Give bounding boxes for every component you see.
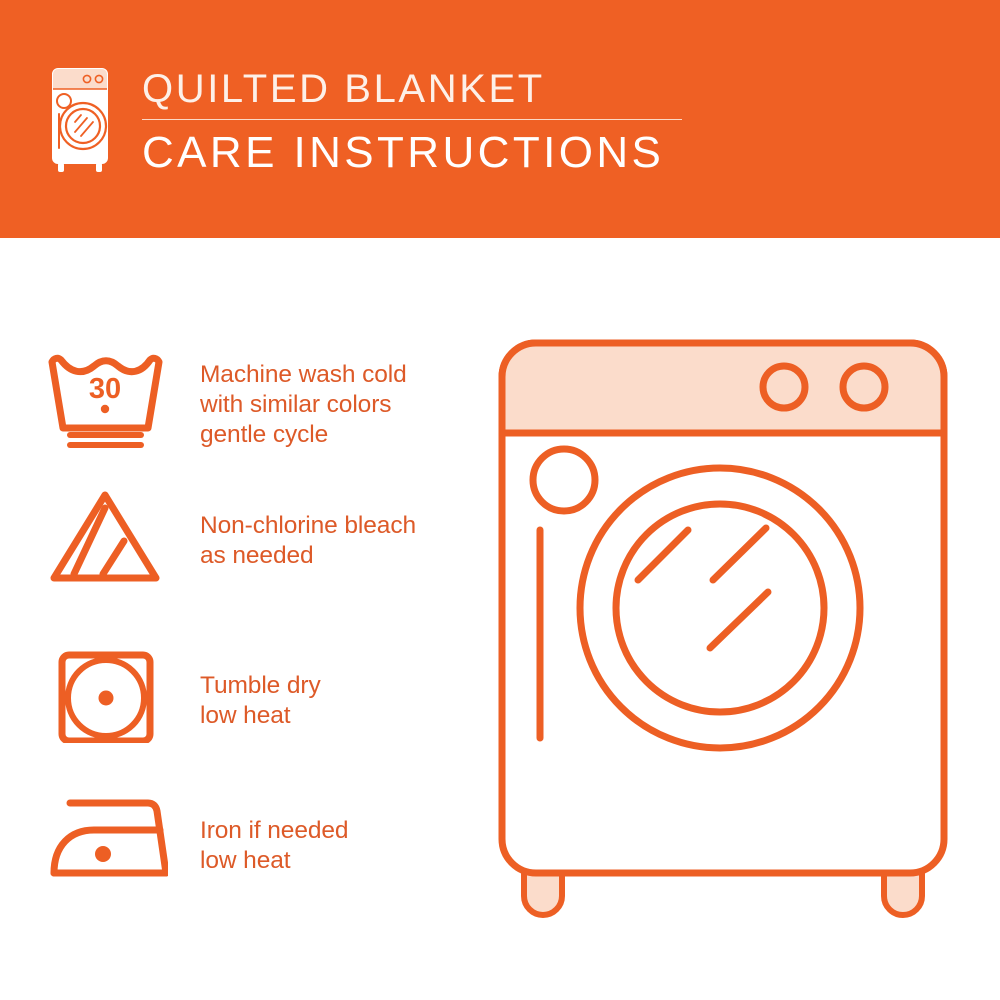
care-item-label-bleach: Non-chlorine bleach as needed <box>200 511 416 571</box>
machine-wash-basin-icon: 30 <box>48 350 168 450</box>
iron-icon <box>48 788 168 888</box>
care-instructions-page: QUILTED BLANKET CARE INSTRUCTIONS 30 <box>0 0 1000 1000</box>
page-title-primary: QUILTED BLANKET <box>142 66 702 112</box>
header-title-block: QUILTED BLANKET CARE INSTRUCTIONS <box>142 66 702 179</box>
care-item-label-machine-wash: Machine wash cold with similar colors ge… <box>200 360 407 450</box>
header-banner: QUILTED BLANKET CARE INSTRUCTIONS <box>0 0 1000 238</box>
washing-machine-logo-icon <box>45 66 111 174</box>
machine-leg-group <box>524 870 922 915</box>
front-load-washing-machine-illustration <box>488 330 958 930</box>
non-chlorine-bleach-triangle-icon <box>48 486 168 586</box>
care-item-label-tumble-dry: Tumble dry low heat <box>200 671 321 731</box>
page-title-secondary: CARE INSTRUCTIONS <box>142 127 702 179</box>
care-symbol-list: 30 Machine wash cold with similar colors… <box>0 238 500 1000</box>
care-item-label-iron: Iron if needed low heat <box>200 816 348 876</box>
wash-temperature-value: 30 <box>89 373 121 405</box>
title-divider <box>142 119 682 120</box>
tumble-dry-square-icon <box>48 643 168 743</box>
